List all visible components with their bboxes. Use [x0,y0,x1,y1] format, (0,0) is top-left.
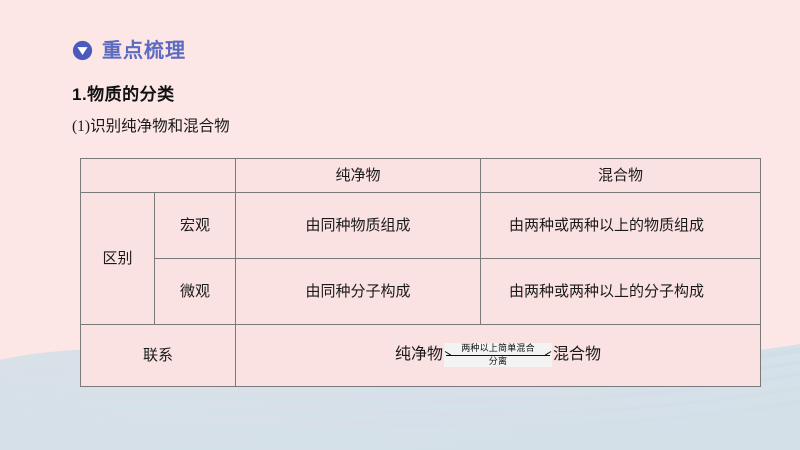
bidirectional-arrow-icon: 两种以上简单混合 分离 [444,343,552,367]
table-header-mixture: 混合物 [481,159,761,193]
cell-pure-micro: 由同种分子构成 [236,259,481,325]
arrow-rule [446,355,550,356]
table-row: 微观 由同种分子构成 由两种或两种以上的分子构成 [81,259,761,325]
relation-diagram-cell: 纯净物 两种以上简单混合 分离 混合物 [236,325,761,387]
aspect-label-micro: 微观 [155,259,236,325]
cell-mixture-micro: 由两种或两种以上的分子构成 [481,259,761,325]
arrow-bottom-label: 分离 [489,356,507,367]
slide-canvas: 重点梳理 1.物质的分类 (1)识别纯净物和混合物 纯净物 混合物 区别 宏观 … [0,0,800,450]
table-header-row: 纯净物 混合物 [81,159,761,193]
row-group-label-relation: 联系 [81,325,236,387]
table-corner-cell [81,159,236,193]
section-header: 重点梳理 [72,40,186,61]
table-row: 区别 宏观 由同种物质组成 由两种或两种以上的物质组成 [81,193,761,259]
section-number-title: 1.物质的分类 [72,80,175,105]
arrow-top-label: 两种以上简单混合 [461,343,535,354]
page-title: 重点梳理 [102,41,186,61]
comparison-table: 纯净物 混合物 区别 宏观 由同种物质组成 由两种或两种以上的物质组成 微观 由… [80,158,761,387]
cell-pure-macro: 由同种物质组成 [236,193,481,259]
table-row-relation: 联系 纯净物 两种以上简单混合 分离 混合物 [81,325,761,387]
row-group-label-difference: 区别 [81,193,155,325]
relation-equation: 纯净物 两种以上简单混合 分离 混合物 [242,343,754,368]
cell-mixture-macro: 由两种或两种以上的物质组成 [481,193,761,259]
aspect-label-macro: 宏观 [155,193,236,259]
relation-left-term: 纯净物 [395,343,443,368]
table-header-pure: 纯净物 [236,159,481,193]
triangle-down-circle-icon [72,40,93,61]
comparison-table-wrapper: 纯净物 混合物 区别 宏观 由同种物质组成 由两种或两种以上的物质组成 微观 由… [80,158,760,386]
section-subtitle: (1)识别纯净物和混合物 [72,114,230,136]
relation-right-term: 混合物 [553,343,601,368]
